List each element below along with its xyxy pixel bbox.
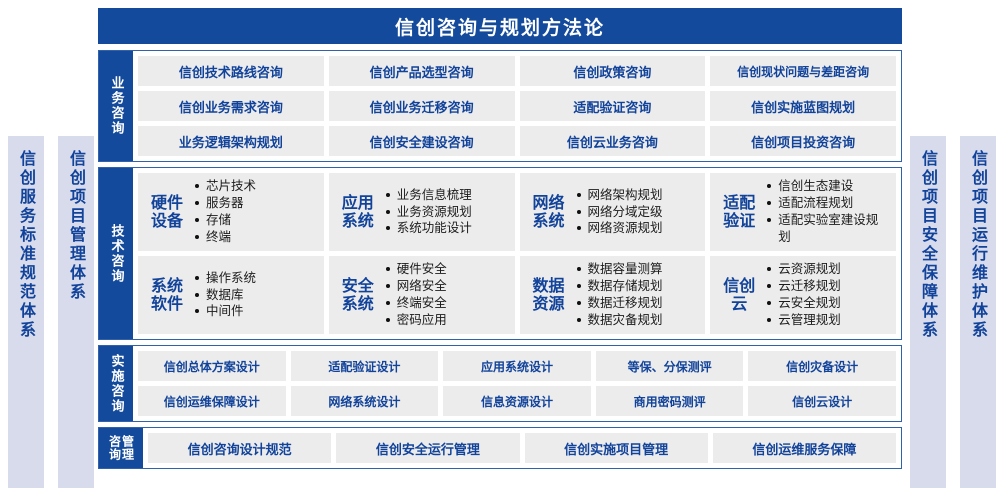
tile-item[interactable]: 适配验证设计 [291,351,439,381]
band-implementation-consulting: 实施咨询 信创总体方案设计 适配验证设计 应用系统设计 等保、分保测评 信创灾备… [98,345,902,422]
card-list-item: 网络安全 [385,278,509,295]
card-list-item: 云安全规划 [766,295,890,312]
tile-item[interactable]: 信创总体方案设计 [138,351,286,381]
tile-row: 信创咨询设计规范 信创安全运行管理 信创实施项目管理 信创运维服务保障 [148,433,896,463]
card-title: 数据资源 [526,277,572,314]
card-list-item: 系统功能设计 [385,220,509,237]
card-list-item: 业务资源规划 [385,204,509,221]
card-list-item: 数据迁移规划 [576,295,700,312]
card-list-item: 数据灾备规划 [576,312,700,329]
tile-item[interactable]: 信创云业务咨询 [520,126,706,156]
tile-row: 业务逻辑架构规划 信创安全建设咨询 信创云业务咨询 信创项目投资咨询 [138,126,896,156]
band-business-consulting-label-bar: 业务咨询 [99,51,133,161]
card-list-item: 数据容量测算 [576,261,700,278]
card-list-item: 网络架构规划 [576,187,700,204]
tile-item[interactable]: 业务逻辑架构规划 [138,126,324,156]
card-list: 芯片技术 服务器 存储 终端 [190,178,318,246]
pillar-right-security-assurance: 信创项目安全保障体系 [910,136,946,488]
tile-item[interactable]: 信创实施蓝图规划 [710,91,896,121]
band-implementation-consulting-label: 实施咨询 [110,354,123,414]
card-list-item: 终端安全 [385,295,509,312]
card-system-software[interactable]: 系统软件 操作系统 数据库 中间件 [138,256,324,334]
card-title: 系统软件 [144,277,190,314]
tile-item[interactable]: 信创安全运行管理 [336,433,519,463]
pillar-left-service-standard-label: 信创服务标准规范体系 [18,150,34,340]
card-title: 网络系统 [526,194,572,231]
band-technical-consulting-body: 硬件设备 芯片技术 服务器 存储 终端 应用系统 业务信息梳理 业务资源规划 [133,168,901,339]
tile-item[interactable]: 信创安全建设咨询 [329,126,515,156]
diagram-canvas: 信创服务标准规范体系 信创项目管理体系 信创项目安全保障体系 信创项目运行维护体… [0,0,1000,496]
band-business-consulting-label: 业务咨询 [110,76,123,136]
card-title: 信创云 [716,277,762,314]
pillar-left-project-management: 信创项目管理体系 [58,136,94,488]
band-consulting-management-body: 信创咨询设计规范 信创安全运行管理 信创实施项目管理 信创运维服务保障 [143,428,901,468]
card-list: 业务信息梳理 业务资源规划 系统功能设计 [381,187,509,238]
tile-item[interactable]: 信创灾备设计 [748,351,896,381]
band-technical-consulting-label: 技术咨询 [110,224,123,284]
tile-row: 信创总体方案设计 适配验证设计 应用系统设计 等保、分保测评 信创灾备设计 [138,351,896,381]
tile-item[interactable]: 信创业务迁移咨询 [329,91,515,121]
card-list-item: 操作系统 [194,270,318,287]
card-hardware-equipment[interactable]: 硬件设备 芯片技术 服务器 存储 终端 [138,173,324,251]
tile-item[interactable]: 网络系统设计 [291,386,439,416]
card-list: 网络架构规划 网络分域定级 网络资源规划 [572,187,700,238]
band-implementation-consulting-label-bar: 实施咨询 [99,346,133,421]
card-network-system[interactable]: 网络系统 网络架构规划 网络分域定级 网络资源规划 [520,173,706,251]
card-security-system[interactable]: 安全系统 硬件安全 网络安全 终端安全 密码应用 [329,256,515,334]
pillar-right-operation-maintenance: 信创项目运行维护体系 [960,136,996,488]
diagram-title-bar: 信创咨询与规划方法论 [98,8,902,44]
pillar-left-service-standard: 信创服务标准规范体系 [8,136,44,488]
card-title: 硬件设备 [144,194,190,231]
card-list-item: 信创生态建设 [766,178,890,195]
tile-item[interactable]: 信创项目投资咨询 [710,126,896,156]
card-xinchuang-cloud[interactable]: 信创云 云资源规划 云迁移规划 云安全规划 云管理规划 [710,256,896,334]
card-list-item: 网络资源规划 [576,220,700,237]
tile-row: 信创运维保障设计 网络系统设计 信息资源设计 商用密码测评 信创云设计 [138,386,896,416]
card-title: 应用系统 [335,194,381,231]
card-application-system[interactable]: 应用系统 业务信息梳理 业务资源规划 系统功能设计 [329,173,515,251]
card-list-item: 数据存储规划 [576,278,700,295]
band-consulting-management: 管理 咨询 信创咨询设计规范 信创安全运行管理 信创实施项目管理 信创运维服务保… [98,427,902,469]
card-list-item: 服务器 [194,195,318,212]
card-list-item: 中间件 [194,303,318,320]
tile-item[interactable]: 信创技术路线咨询 [138,56,324,86]
tile-item[interactable]: 信创运维保障设计 [138,386,286,416]
card-list: 硬件安全 网络安全 终端安全 密码应用 [381,261,509,329]
tile-item[interactable]: 等保、分保测评 [596,351,744,381]
card-list-item: 芯片技术 [194,178,318,195]
tile-row: 信创技术路线咨询 信创产品选型咨询 信创政策咨询 信创现状问题与差距咨询 [138,56,896,86]
card-list: 云资源规划 云迁移规划 云安全规划 云管理规划 [762,261,890,329]
pillar-right-security-assurance-label: 信创项目安全保障体系 [920,150,936,340]
band-consulting-management-label-bar: 管理 咨询 [99,428,143,468]
band-consulting-management-label-col1: 咨询 [109,435,121,461]
tile-item[interactable]: 信创实施项目管理 [525,433,708,463]
band-business-consulting: 业务咨询 信创技术路线咨询 信创产品选型咨询 信创政策咨询 信创现状问题与差距咨… [98,50,902,162]
card-data-resource[interactable]: 数据资源 数据容量测算 数据存储规划 数据迁移规划 数据灾备规划 [520,256,706,334]
tile-row: 信创业务需求咨询 信创业务迁移咨询 适配验证咨询 信创实施蓝图规划 [138,91,896,121]
card-list-item: 适配实验室建设规划 [766,212,890,246]
pillar-right-operation-maintenance-label: 信创项目运行维护体系 [970,150,986,340]
card-list-item: 存储 [194,212,318,229]
tile-item[interactable]: 信创产品选型咨询 [329,56,515,86]
card-list-item: 密码应用 [385,312,509,329]
tile-item[interactable]: 信息资源设计 [443,386,591,416]
diagram-title: 信创咨询与规划方法论 [395,13,605,40]
tile-item[interactable]: 应用系统设计 [443,351,591,381]
band-implementation-consulting-body: 信创总体方案设计 适配验证设计 应用系统设计 等保、分保测评 信创灾备设计 信创… [133,346,901,421]
card-list-item: 云迁移规划 [766,278,890,295]
band-technical-consulting: 技术咨询 硬件设备 芯片技术 服务器 存储 终端 应用系统 [98,167,902,340]
card-list-item: 终端 [194,229,318,246]
card-list: 信创生态建设 适配流程规划 适配实验室建设规划 [762,178,890,246]
pillar-left-project-management-label: 信创项目管理体系 [68,150,84,302]
card-list: 操作系统 数据库 中间件 [190,270,318,321]
band-technical-consulting-label-bar: 技术咨询 [99,168,133,339]
tile-item[interactable]: 信创云设计 [748,386,896,416]
tile-item[interactable]: 商用密码测评 [596,386,744,416]
tile-item[interactable]: 信创运维服务保障 [713,433,896,463]
card-list-item: 数据库 [194,287,318,304]
card-list-item: 适配流程规划 [766,195,890,212]
card-list-item: 云管理规划 [766,312,890,329]
card-title: 适配验证 [716,194,762,231]
tile-item[interactable]: 信创业务需求咨询 [138,91,324,121]
card-title: 安全系统 [335,277,381,314]
tile-item[interactable]: 信创政策咨询 [520,56,706,86]
card-row: 硬件设备 芯片技术 服务器 存储 终端 应用系统 业务信息梳理 业务资源规划 [138,173,896,251]
card-list-item: 网络分域定级 [576,204,700,221]
tile-item[interactable]: 信创咨询设计规范 [148,433,331,463]
card-list-item: 云资源规划 [766,261,890,278]
band-business-consulting-body: 信创技术路线咨询 信创产品选型咨询 信创政策咨询 信创现状问题与差距咨询 信创业… [133,51,901,161]
card-adaptation-verification[interactable]: 适配验证 信创生态建设 适配流程规划 适配实验室建设规划 [710,173,896,251]
card-row: 系统软件 操作系统 数据库 中间件 安全系统 硬件安全 网络安全 终端安全 [138,256,896,334]
card-list-item: 硬件安全 [385,261,509,278]
main-column: 信创咨询与规划方法论 业务咨询 信创技术路线咨询 信创产品选型咨询 信创政策咨询… [98,8,902,474]
card-list-item: 业务信息梳理 [385,187,509,204]
band-consulting-management-label-col2: 管理 [122,435,134,461]
tile-item[interactable]: 信创现状问题与差距咨询 [710,56,896,86]
card-list: 数据容量测算 数据存储规划 数据迁移规划 数据灾备规划 [572,261,700,329]
tile-item[interactable]: 适配验证咨询 [520,91,706,121]
